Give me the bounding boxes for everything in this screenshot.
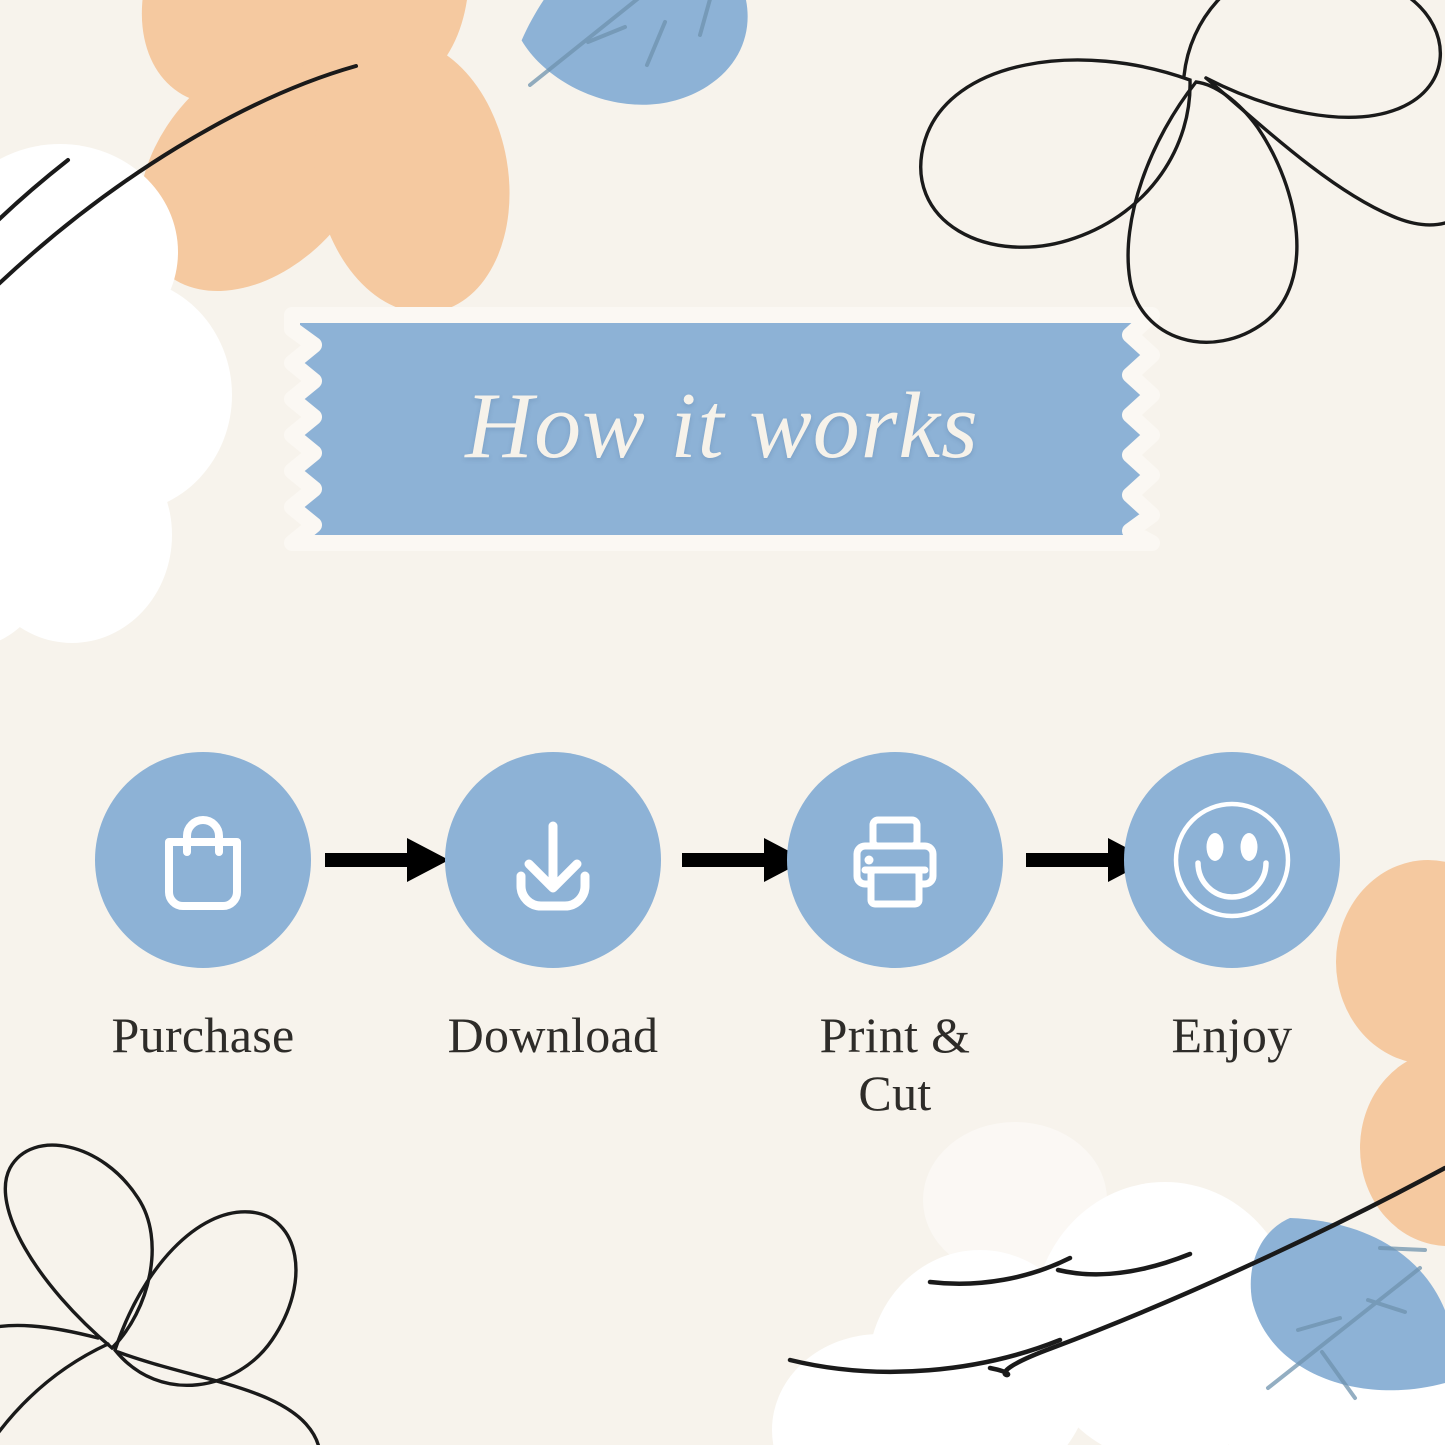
- download-icon: [493, 800, 613, 920]
- step-label: Download: [437, 1006, 669, 1064]
- step-icon-circle[interactable]: [95, 752, 311, 968]
- step-label: Print & Cut: [779, 1006, 1011, 1122]
- step-enjoy[interactable]: Enjoy: [1116, 752, 1348, 1064]
- step-icon-circle[interactable]: [1124, 752, 1340, 968]
- shopping-bag-icon: [143, 800, 263, 920]
- step-icon-circle[interactable]: [445, 752, 661, 968]
- steps-row: Purchase Download: [0, 752, 1445, 1152]
- page-title: How it works: [264, 303, 1180, 555]
- arrow-right-icon: [323, 836, 451, 884]
- step-purchase[interactable]: Purchase: [87, 752, 319, 1064]
- step-label-line2: Cut: [858, 1065, 931, 1121]
- step-label: Purchase: [87, 1006, 319, 1064]
- step-print-cut[interactable]: Print & Cut: [779, 752, 1011, 1122]
- printer-icon: [835, 800, 955, 920]
- infographic-canvas: How it works Purchase: [0, 0, 1445, 1445]
- step-label: Enjoy: [1116, 1006, 1348, 1064]
- step-download[interactable]: Download: [437, 752, 669, 1064]
- banner: How it works: [264, 303, 1180, 555]
- step-icon-circle[interactable]: [787, 752, 1003, 968]
- smiley-face-icon: [1165, 793, 1299, 927]
- step-label-line1: Print &: [820, 1007, 971, 1063]
